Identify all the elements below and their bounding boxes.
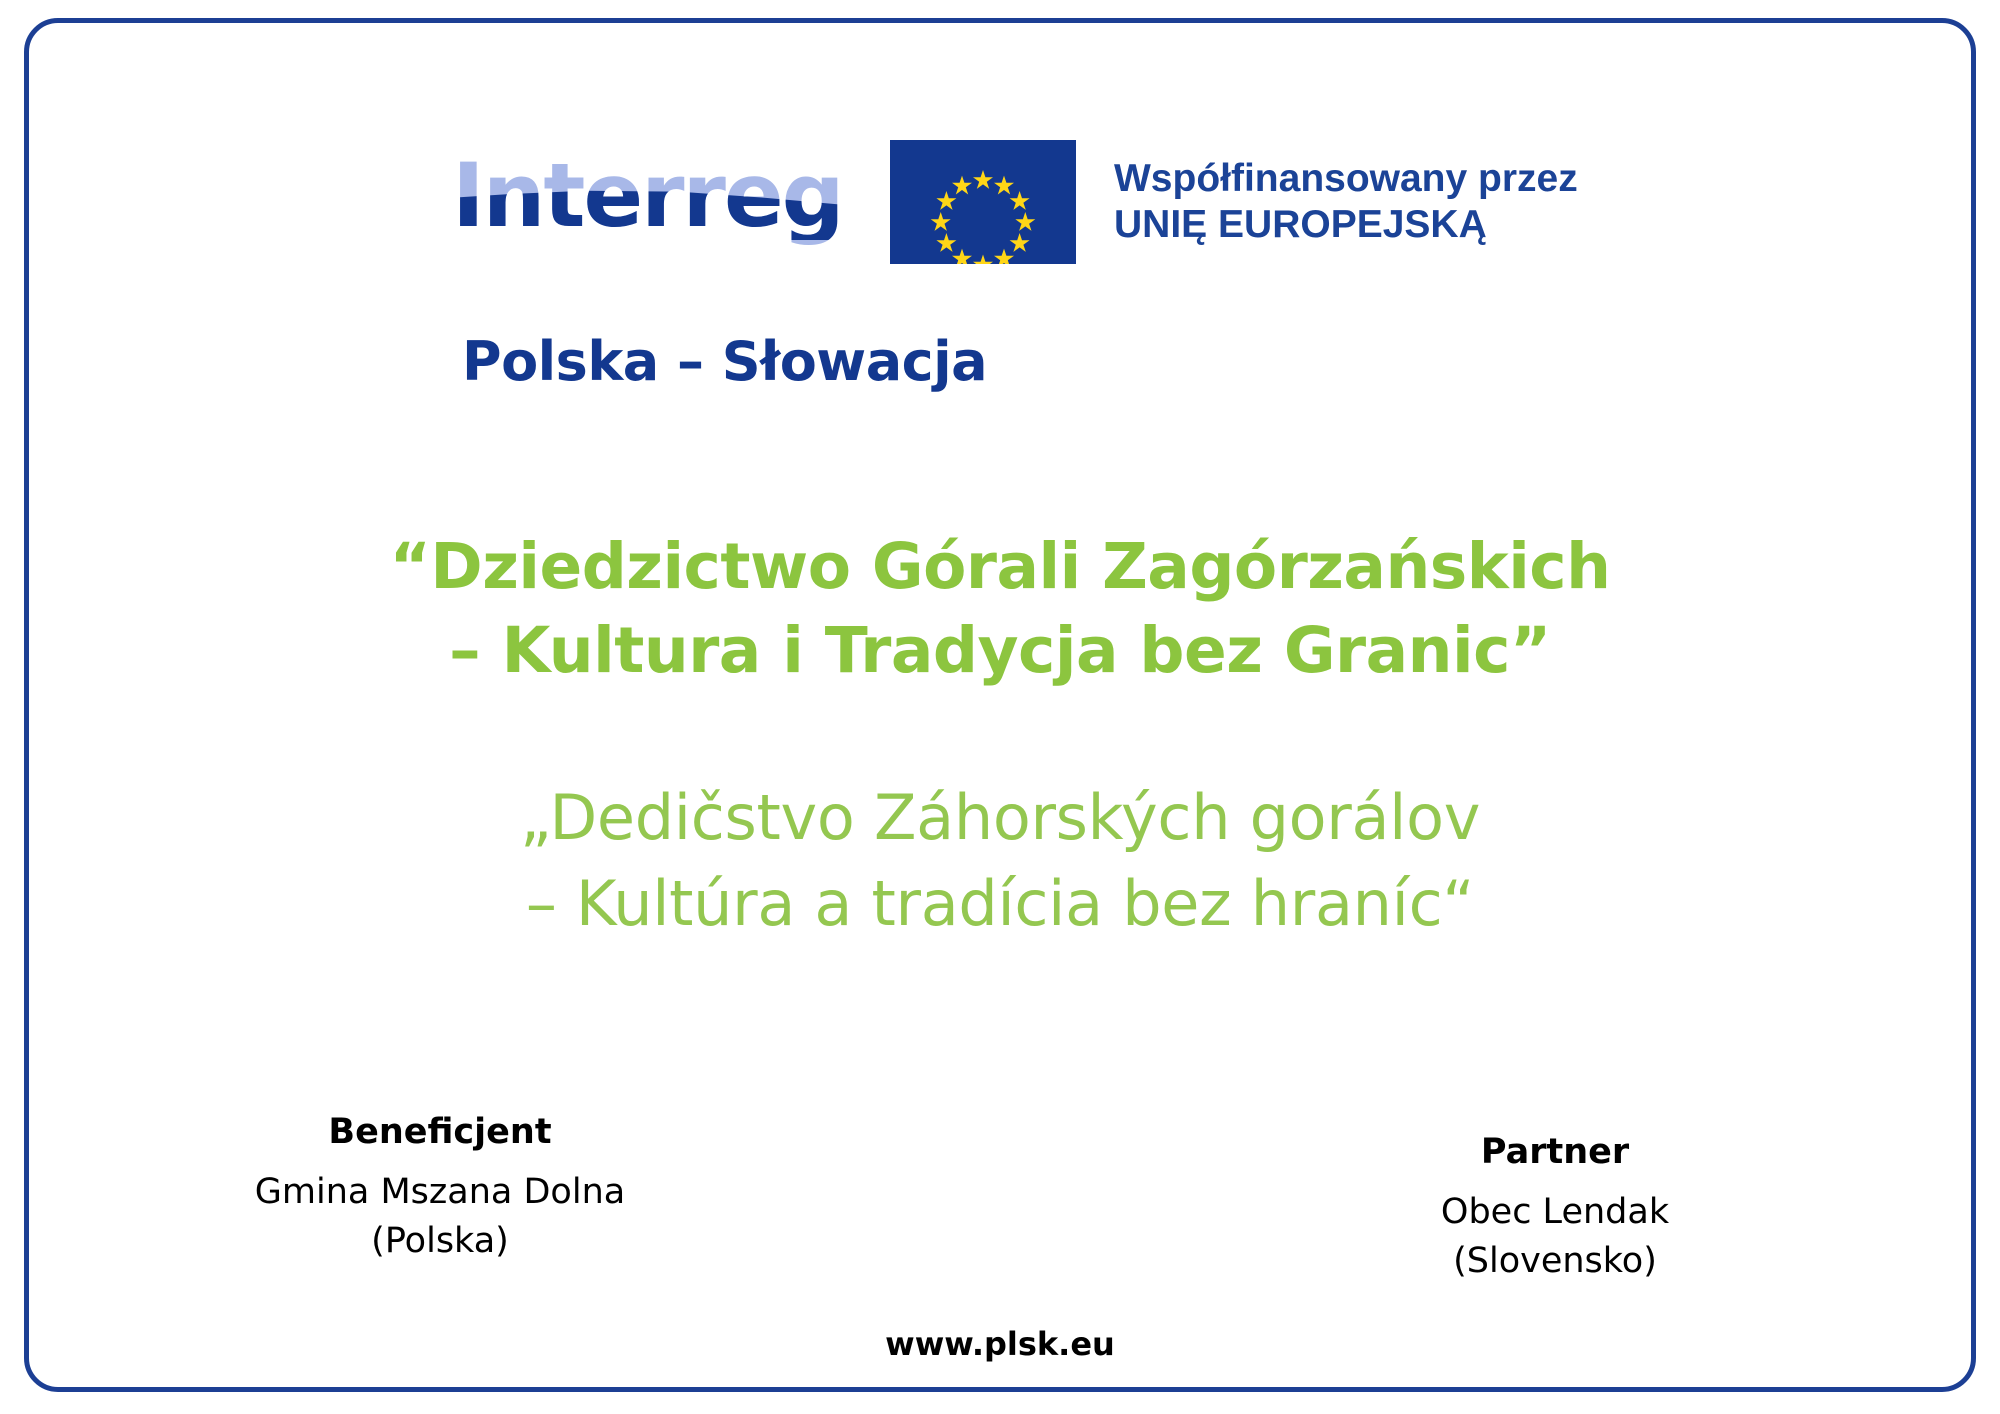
project-poster: Interreg Interreg <box>0 0 2000 1414</box>
project-title-pl-line-2: – Kultura i Tradycja bez Granic” <box>0 609 2000 693</box>
partner-block: Partner Obec Lendak (Slovensko) <box>1300 1130 1810 1287</box>
partner-organisation: Obec Lendak <box>1300 1188 1810 1238</box>
partner-country: (Slovensko) <box>1300 1237 1810 1287</box>
interreg-logo: Interreg Interreg <box>452 152 872 252</box>
eu-flag-icon <box>890 140 1076 264</box>
programme-name: Polska – Słowacja <box>462 330 987 393</box>
beneficiary-country: (Polska) <box>185 1217 695 1267</box>
eu-cofunding-line-2: UNIĘ EUROPEJSKĄ <box>1114 202 1578 248</box>
beneficiary-role-label: Beneficjent <box>185 1110 695 1156</box>
partner-role-label: Partner <box>1300 1130 1810 1176</box>
programme-website[interactable]: www.plsk.eu <box>0 1325 2000 1363</box>
beneficiary-organisation: Gmina Mszana Dolna <box>185 1168 695 1218</box>
project-title-pl-line-1: “Dziedzictwo Górali Zagórzańskich <box>0 525 2000 609</box>
project-title-pl: “Dziedzictwo Górali Zagórzańskich – Kult… <box>0 525 2000 693</box>
beneficiary-block: Beneficjent Gmina Mszana Dolna (Polska) <box>185 1110 695 1267</box>
eu-cofunding-line-1: Współfinansowany przez <box>1114 156 1578 202</box>
project-title-sk: „Dedičstvo Záhorských gorálov – Kultúra … <box>0 775 2000 946</box>
eu-cofunding-text: Współfinansowany przez UNIĘ EUROPEJSKĄ <box>1114 156 1578 247</box>
branding-row: Interreg Interreg <box>452 140 1578 264</box>
project-title-sk-line-2: – Kultúra a tradícia bez hraníc“ <box>0 861 2000 947</box>
project-title-sk-line-1: „Dedičstvo Záhorských gorálov <box>0 775 2000 861</box>
